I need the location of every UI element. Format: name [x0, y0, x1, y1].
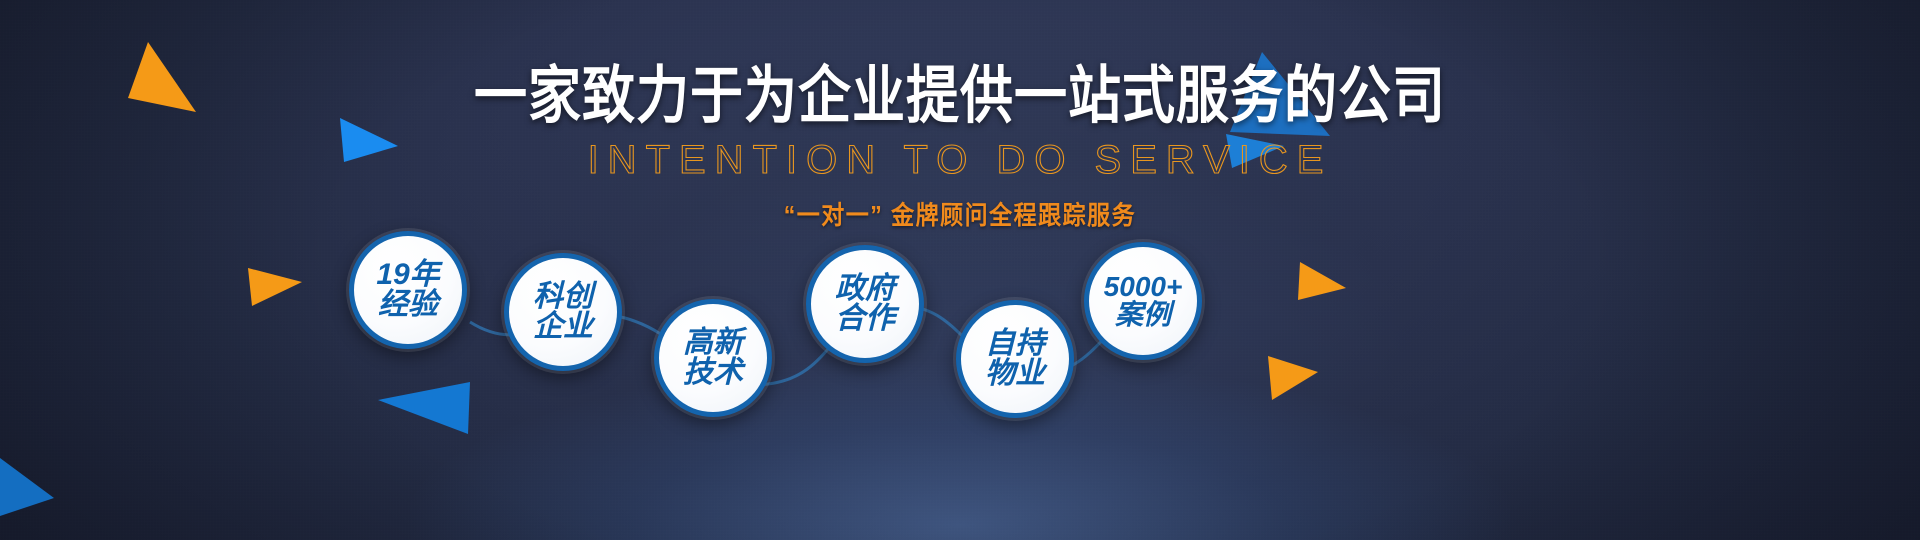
- badge-list: 19年 经验 科创 企业 高新 技术 政府 合作 自持 物业 5000+ 案例: [0, 0, 1920, 540]
- badge-line2: 技术: [683, 358, 743, 388]
- badge-item: 高新 技术: [654, 299, 772, 417]
- badge-line1: 科创: [533, 282, 593, 312]
- badge-item: 5000+ 案例: [1084, 242, 1202, 360]
- badge-item: 19年 经验: [349, 231, 467, 349]
- badge-line1: 高新: [683, 328, 743, 358]
- promo-banner: 一家致力于为企业提供一站式服务的公司 INTENTION TO DO SERVI…: [0, 0, 1920, 540]
- badge-line1: 5000+: [1104, 273, 1183, 301]
- badge-line1: 自持: [985, 329, 1045, 359]
- badge-line1: 19年: [376, 260, 439, 290]
- badge-line2: 企业: [533, 312, 593, 342]
- badge-line2: 物业: [985, 359, 1045, 389]
- badge-line2: 合作: [835, 304, 895, 334]
- badge-line2: 经验: [378, 290, 438, 320]
- badge-line1: 政府: [835, 274, 895, 304]
- badge-item: 科创 企业: [504, 253, 622, 371]
- badge-line2: 案例: [1115, 301, 1171, 329]
- badge-item: 自持 物业: [956, 300, 1074, 418]
- badge-item: 政府 合作: [806, 245, 924, 363]
